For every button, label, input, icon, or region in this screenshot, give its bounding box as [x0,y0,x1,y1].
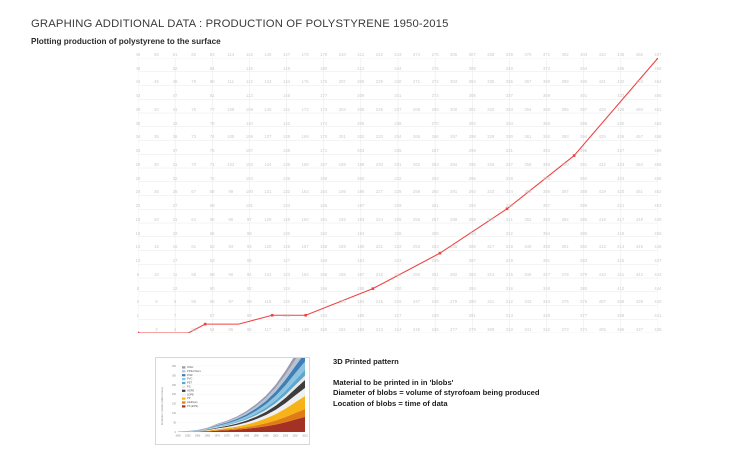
grid-number: 72 [210,177,215,181]
grid-number: 409 [617,314,624,318]
thumbnail-legend-swatch [182,386,185,388]
grid-number: 445 [636,245,643,249]
grid-number: 221 [376,245,383,249]
grid-number: 320 [487,218,494,222]
grid-number: 230 [376,163,383,167]
grid-number: 8 [137,287,139,291]
grid-number: 62 [210,245,215,249]
grid-number: 430 [617,122,624,126]
grid-number: 292 [469,190,476,194]
grid-number: 352 [524,218,531,222]
grid-number: 241 [394,94,401,98]
grid-number: 416 [599,218,606,222]
grid-number: 423 [617,163,624,167]
grid-number: 118 [283,328,290,332]
grid-number: 440 [654,300,661,304]
grid-number: 254 [432,245,439,249]
grid-number: 207 [339,80,346,84]
grid-number: 459 [654,149,661,153]
grid-number: 134 [264,163,271,167]
grid-number: 381 [562,245,569,249]
grid-number: 200 [357,177,364,181]
grid-number: 361 [524,135,531,139]
grid-number: 350 [543,245,550,249]
grid-number: 291 [450,190,457,194]
grid-number: 229 [394,204,401,208]
grid-number: 276 [432,67,439,71]
grid-number: 119 [265,300,272,304]
grid-number: 112 [246,80,253,84]
grid-number: 386 [580,232,587,236]
grid-number: 87 [228,300,233,304]
grid-number: 366 [543,122,550,126]
grid-number: 333 [506,108,513,112]
thumbnail-legend-swatch [182,378,185,380]
grid-number: 161 [320,218,327,222]
grid-number: 345 [543,314,550,318]
grid-number: 436 [617,67,624,71]
grid-number: 369 [543,94,550,98]
grid-number: 51 [173,53,178,57]
grid-number: 9 [137,273,139,277]
grid-number: 58 [191,273,196,277]
grid-number: 225 [394,218,401,222]
grid-number: 305 [469,94,476,98]
grid-number: 318 [506,245,513,249]
grid-number: 12 [173,287,178,291]
grid-number: 374 [580,328,587,332]
data-point-marker [372,287,375,290]
grid-number: 307 [469,53,476,57]
grid-number: 96 [228,218,233,222]
grid-number: 98 [247,232,252,236]
grid-number: 284 [469,287,476,291]
grid-number: 256 [413,218,420,222]
grid-number: 34 [136,135,141,139]
grid-number: 412 [617,287,624,291]
grid-number: 114 [227,53,234,57]
grid-number: 267 [432,149,439,153]
grid-number: 156 [320,287,327,291]
grid-number: 278 [469,328,476,332]
grid-number: 327 [506,163,513,167]
grid-number: 190 [357,245,364,249]
grid-number: 415 [617,259,624,263]
grid-number: 286 [469,245,476,249]
grid-number: 316 [506,287,513,291]
grid-number: 238 [394,122,401,126]
grid-number: 213 [376,328,383,332]
grid-number: 301 [469,108,476,112]
grid-number: 141 [283,108,290,112]
grid-number: 311 [487,300,494,304]
grid-number: 48 [136,67,141,71]
grid-number: 288 [450,218,457,222]
grid-number: 195 [339,190,346,194]
grid-number: 297 [450,135,457,139]
grid-number: 462 [654,122,661,126]
thumbnail-legend-label: LDPE [187,392,194,396]
grid-number: 23 [136,204,141,208]
grid-number: 146 [264,53,271,57]
grid-number: 341 [524,328,531,332]
grid-number: 298 [469,135,476,139]
thumbnail-x-tick: 1950 [175,435,181,438]
grid-number: 365 [543,108,550,112]
grid-number: 249 [432,314,439,318]
grid-number: 149 [302,328,309,332]
grid-number: 427 [617,149,624,153]
grid-number: 405 [599,328,606,332]
grid-number: 344 [543,300,550,304]
grid-number: 411 [617,273,624,277]
grid-number: 382 [580,245,587,249]
grid-number: 235 [394,149,401,153]
grid-number: 435 [617,53,624,57]
grid-number: 75 [210,149,215,153]
grid-number: 81 [210,94,215,98]
grid-number: 37 [173,149,178,153]
grid-number: 7 [174,314,176,318]
grid-number: 125 [264,245,271,249]
grid-number: 401 [580,94,587,98]
thumbnail-legend-swatch [182,366,185,368]
grid-number: 315 [506,273,513,277]
grid-number: 296 [469,177,476,181]
annotation-block: 3D Printed pattern Material to be printe… [333,358,540,411]
grid-number: 266 [432,135,439,139]
grid-number: 5 [155,300,157,304]
thumbnail-y-axis: 050100150200250300350 [172,365,177,434]
grid-number: 392 [580,177,587,181]
grid-number: 304 [469,80,476,84]
page-title: GRAPHING ADDITIONAL DATA : PRODUCTION OF… [31,18,449,30]
grid-number: 162 [320,232,327,236]
grid-number: 321 [506,218,513,222]
grid-number: 268 [413,108,420,112]
grid-number: 465 [654,94,661,98]
grid-number: 175 [302,80,309,84]
grid-number: 1 [137,314,139,318]
grid-number: 36 [173,135,178,139]
grid-number: 353 [543,218,550,222]
grid-number: 52 [173,67,178,71]
grid-number: 46 [173,80,178,84]
grid-number: 371 [543,53,550,57]
grid-number: 100 [246,190,253,194]
grid-number: 260 [432,190,439,194]
grid-number: 234 [394,135,401,139]
grid-number: 204 [339,108,346,112]
grid-number: 220 [394,287,401,291]
grid-number: 50 [154,53,159,57]
grid-number: 79 [191,80,196,84]
grid-number: 379 [580,273,587,277]
grid-number: 376 [580,300,587,304]
grid-number: 93 [228,245,233,249]
grid-number: 165 [320,204,327,208]
grid-number: 417 [617,218,624,222]
grid-number: 346 [524,273,531,277]
grid-number: 449 [654,218,661,222]
grid-number: 324 [506,190,513,194]
thumbnail-y-tick: 250 [172,384,177,387]
grid-number: 121 [283,314,290,318]
grid-number: 189 [339,245,346,249]
grid-number: 396 [562,108,569,112]
grid-number: 312 [506,300,513,304]
grid-number: 360 [543,177,550,181]
thumbnail-legend-swatch [182,401,185,403]
data-point-marker [138,332,139,333]
thumbnail-legend-label: PS (EPS) [187,404,198,408]
grid-number: 231 [394,163,401,167]
grid-number: 170 [320,135,327,139]
grid-number: 20 [154,218,159,222]
grid-number: 77 [210,108,215,112]
grid-number: 145 [283,94,290,98]
grid-number: 272 [432,80,439,84]
grid-number: 413 [599,245,606,249]
grid-number: 116 [246,67,253,71]
grid-number: 387 [562,190,569,194]
grid-number: 385 [580,218,587,222]
grid-number: 351 [543,259,550,263]
grid-number: 82 [191,53,196,57]
grid-number: 429 [617,108,624,112]
grid-number: 120 [283,300,290,304]
grid-number: 57 [210,314,215,318]
grid-number: 144 [283,80,290,84]
grid-number: 25 [154,190,159,194]
grid-number: 150 [320,328,327,332]
grid-number: 322 [506,232,513,236]
grid-number: 282 [450,273,457,277]
grid-number: 246 [432,328,439,332]
grid-number: 408 [617,300,624,304]
grid-number: 67 [191,190,196,194]
thumbnail-y-tick: 100 [172,412,177,415]
thumbnail-y-tick: 200 [172,393,177,396]
grid-number: 163 [302,190,309,194]
grid-number: 418 [617,232,624,236]
grid-number: 414 [617,245,624,249]
grid-number: 337 [506,94,513,98]
grid-number: 133 [283,204,290,208]
grid-number: 192 [339,218,346,222]
grid-number: 340 [506,67,513,71]
grid-number: 55 [191,300,196,304]
grid-number: 443 [654,273,661,277]
grid-number: 239 [376,80,383,84]
grid-number: 389 [580,204,587,208]
grid-number: 208 [357,80,364,84]
grid-number: 245 [413,328,420,332]
grid-number: 151 [302,300,309,304]
grid-number: 227 [376,190,383,194]
grid-number: 342 [543,328,550,332]
grid-number: 251 [432,273,439,277]
grid-number: 255 [432,259,439,263]
grid-number: 448 [636,218,643,222]
grid-number: 3 [155,328,157,332]
grid-number: 137 [264,135,271,139]
grid-number: 364 [524,108,531,112]
grid-number: 294 [450,163,457,167]
grid-number: 228 [394,190,401,194]
grid-number: 433 [617,94,624,98]
grid-number: 273 [432,94,439,98]
grid-number: 444 [654,287,661,291]
thumbnail-x-tick: 1960 [195,435,201,438]
grid-number: 177 [320,94,327,98]
grid-number: 287 [469,259,476,263]
grid-number: 217 [394,314,401,318]
grid-number: 183 [339,300,346,304]
grid-number: 233 [376,135,383,139]
grid-number: 198 [339,163,346,167]
thumbnail-legend-label: HDPE [187,388,194,392]
grid-number: 240 [394,80,401,84]
grid-number: 97 [247,218,252,222]
grid-number: 359 [543,163,550,167]
grid-number: 135 [283,163,290,167]
grid-number: 363 [543,149,550,153]
data-point-marker [573,154,576,157]
grid-number: 404 [580,67,587,71]
grid-number: 59 [210,273,215,277]
thumbnail-legend-label: PP [187,396,191,400]
grid-number: 85 [228,328,233,332]
grid-number: 160 [302,218,309,222]
thumbnail-legend-label: PUR [187,373,193,377]
grid-number: 210 [339,53,346,57]
grid-number: 258 [432,232,439,236]
grid-number: 219 [394,273,401,277]
grid-number: 113 [246,94,253,98]
grid-number: 275 [432,53,439,57]
grid-number: 452 [654,190,661,194]
grid-number: 263 [432,163,439,167]
grid-number: 394 [580,135,587,139]
grid-number: 196 [357,190,364,194]
thumbnail-x-tick: 2000 [273,435,279,438]
grid-number: 358 [524,163,531,167]
thumbnail-legend-swatch [182,370,185,372]
grid-number: 368 [543,80,550,84]
grid-number: 86 [247,328,252,332]
grid-number: 325 [506,204,513,208]
data-point-marker [304,314,307,317]
grid-number: 270 [432,122,439,126]
grid-number: 109 [246,108,253,112]
grid-number: 159 [320,259,327,263]
grid-number: 147 [283,53,290,57]
grid-number: 178 [302,53,309,57]
grid-number: 421 [617,204,624,208]
grid-number: 323 [487,190,494,194]
grid-number: 281 [469,314,476,318]
grid-number: 106 [246,135,253,139]
grid-number: 45 [154,80,159,84]
thumbnail-legend: OtherPP&A fibersPURPVCPETPSHDPELDPEPPAdd… [182,365,202,408]
grid-number: 391 [580,163,587,167]
grid-number: 80 [210,80,215,84]
grid-number: 302 [469,122,476,126]
grid-number: 92 [247,287,252,291]
grid-number: 155 [320,273,327,277]
grid-number: 49 [136,53,141,57]
grid-number: 66 [210,232,215,236]
grid-number: 83 [210,53,215,57]
grid-number: 375 [562,300,569,304]
grid-number: 410 [599,273,606,277]
grid-number: 378 [562,273,569,277]
grid-number: 373 [562,328,569,332]
grid-number: 132 [283,190,290,194]
grid-number: 142 [283,122,290,126]
thumbnail-chart-svg: 050100150200250300350 195019551960196519… [156,358,309,444]
grid-number: 166 [302,163,309,167]
grid-number: 42 [173,122,178,126]
grid-number: 41 [173,108,178,112]
grid-number: 101 [246,204,253,208]
grid-number: 122 [264,273,271,277]
grid-number: 28 [136,177,141,181]
grid-number: 194 [357,232,364,236]
thumbnail-legend-label: Additives [187,400,198,404]
grid-number: 308 [469,67,476,71]
grid-number: 201 [339,135,346,139]
grid-number: 377 [580,314,587,318]
grid-number: 434 [599,53,606,57]
grid-number: 349 [524,245,531,249]
grid-number: 102 [227,163,234,167]
grid-number: 354 [543,232,550,236]
grid-number: 69 [210,204,215,208]
grid-number: 265 [413,135,420,139]
grid-number: 289 [469,218,476,222]
grid-number: 243 [394,53,401,57]
grid-number: 90 [228,273,233,277]
grid-number: 158 [320,245,327,249]
grid-number: 439 [636,300,643,304]
grid-number: 437 [636,328,643,332]
grid-number: 15 [154,245,159,249]
grid-number: 6 [174,300,176,304]
grid-number: 38 [136,122,141,126]
grid-number: 188 [357,287,364,291]
grid-number: 338 [487,53,494,57]
grid-number: 328 [506,177,513,181]
grid-number: 428 [599,108,606,112]
grid-number: 73 [191,135,196,139]
thumbnail-x-tick: 2010 [293,435,299,438]
grid-number: 277 [450,328,457,332]
grid-number: 466 [636,53,643,57]
grid-number: 426 [617,135,624,139]
grid-number: 329 [487,135,494,139]
grid-number: 259 [413,190,420,194]
grid-number: 4 [174,328,176,332]
grid-number: 406 [617,328,624,332]
grid-number: 103 [246,163,253,167]
data-point-marker [271,314,274,317]
grid-number: 339 [506,53,513,57]
grid-number: 222 [394,245,401,249]
grid-number: 53 [191,328,196,332]
grid-number: 343 [524,300,531,304]
